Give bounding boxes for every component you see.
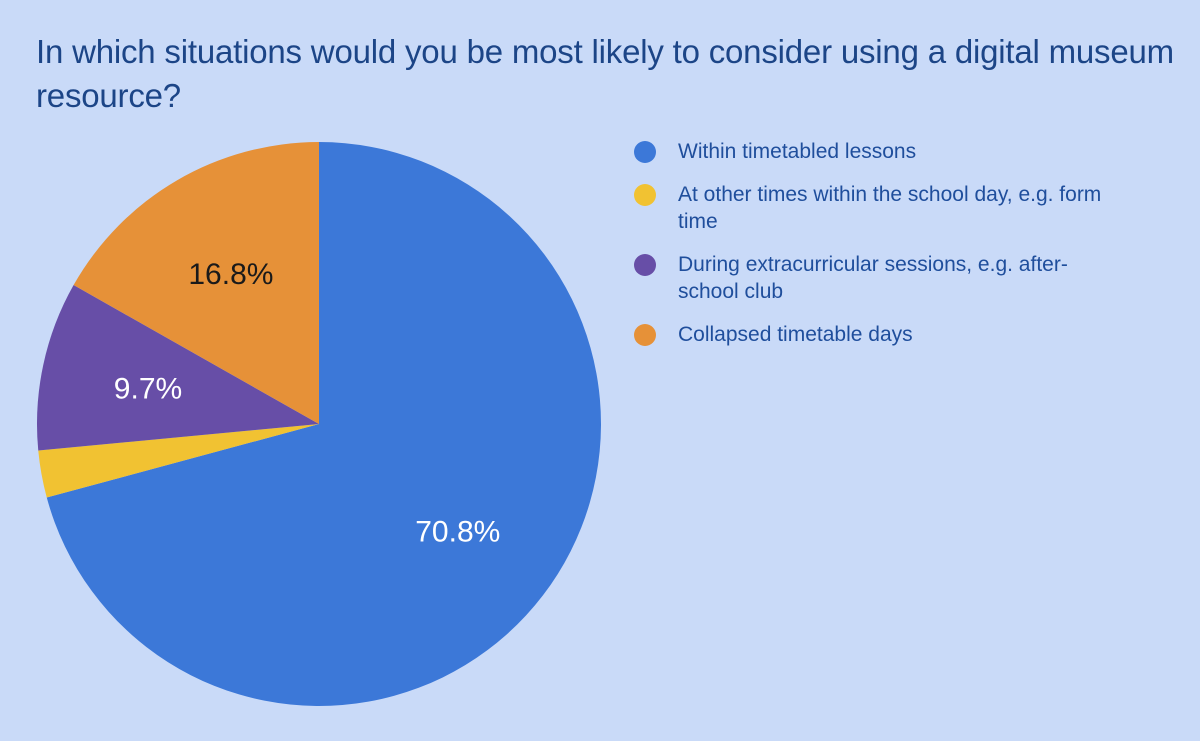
pie-slice-value-label: 9.7% bbox=[114, 373, 182, 406]
chart-legend: Within timetabled lessons At other times… bbox=[634, 138, 1174, 364]
legend-label: Within timetabled lessons bbox=[678, 138, 916, 165]
legend-swatch-yellow-icon bbox=[634, 184, 656, 206]
legend-label: During extracurricular sessions, e.g. af… bbox=[678, 251, 1128, 305]
legend-item-collapsed-timetable-days[interactable]: Collapsed timetable days bbox=[634, 321, 1174, 348]
legend-label: Collapsed timetable days bbox=[678, 321, 913, 348]
pie-slices-group bbox=[37, 142, 601, 706]
legend-item-at-other-times-within-school-day[interactable]: At other times within the school day, e.… bbox=[634, 181, 1174, 235]
pie-slice-value-label: 70.8% bbox=[415, 515, 500, 548]
pie-plot-area: 70.8%9.7%16.8% bbox=[0, 0, 660, 741]
pie-slice-value-label: 16.8% bbox=[188, 258, 273, 291]
legend-item-within-timetabled-lessons[interactable]: Within timetabled lessons bbox=[634, 138, 1174, 165]
legend-swatch-blue-icon bbox=[634, 141, 656, 163]
legend-label: At other times within the school day, e.… bbox=[678, 181, 1128, 235]
pie-chart-figure: In which situations would you be most li… bbox=[0, 0, 1200, 741]
pie-svg: 70.8%9.7%16.8% bbox=[0, 0, 660, 741]
legend-item-during-extracurricular-sessions[interactable]: During extracurricular sessions, e.g. af… bbox=[634, 251, 1174, 305]
legend-swatch-orange-icon bbox=[634, 324, 656, 346]
legend-swatch-purple-icon bbox=[634, 254, 656, 276]
